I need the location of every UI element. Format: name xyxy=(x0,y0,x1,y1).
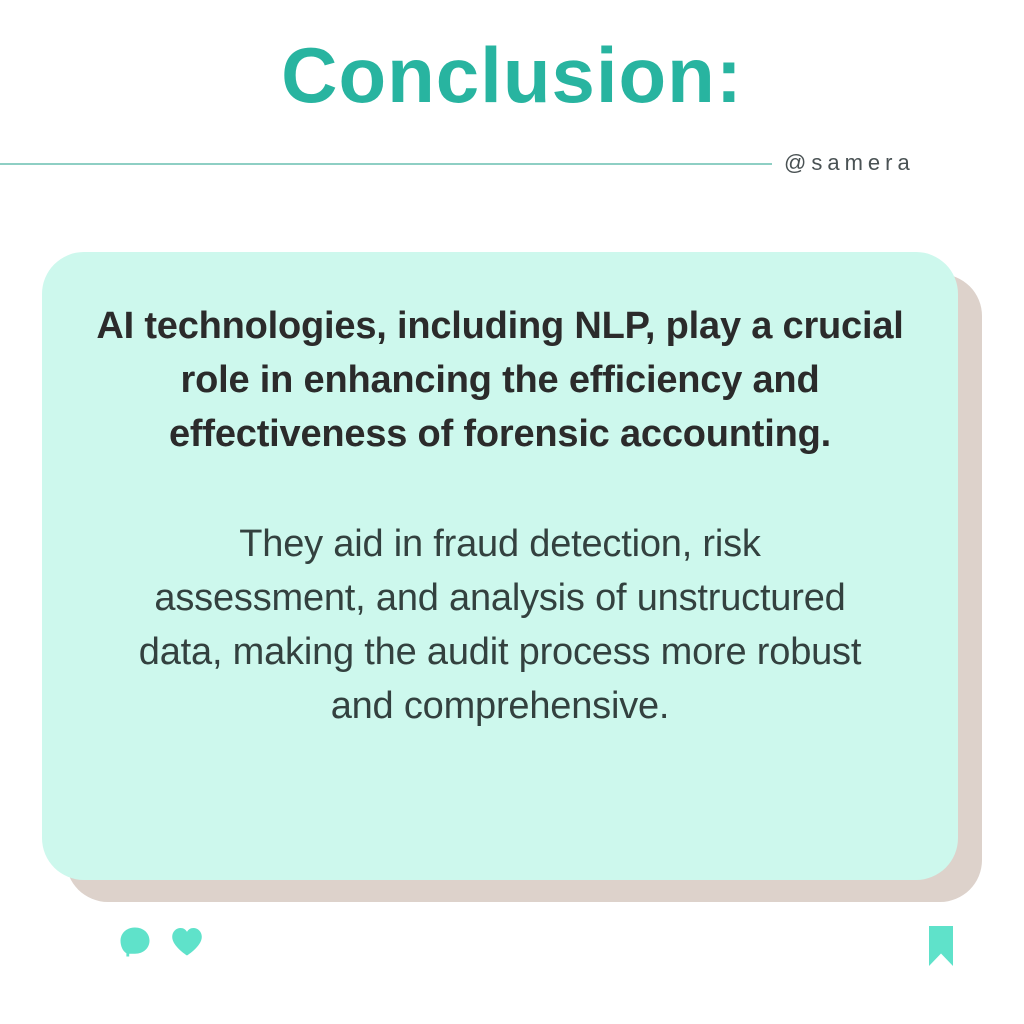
bookmark-icon[interactable] xyxy=(926,925,956,967)
content-card: AI technologies, including NLP, play a c… xyxy=(42,252,958,880)
divider-row: @samera xyxy=(0,150,1024,190)
card-paragraph-secondary: They aid in fraud detection, risk assess… xyxy=(129,518,871,734)
comment-icon[interactable] xyxy=(118,925,152,959)
author-handle: @samera xyxy=(784,150,915,176)
post-slide: Conclusion: @samera AI technologies, inc… xyxy=(0,0,1024,1024)
header-divider xyxy=(0,163,772,165)
content-card-wrapper: AI technologies, including NLP, play a c… xyxy=(42,252,958,880)
header: Conclusion: @samera xyxy=(0,0,1024,190)
page-title: Conclusion: xyxy=(0,36,1024,114)
footer-action-bar xyxy=(0,925,1024,985)
footer-right-actions xyxy=(926,925,956,967)
card-paragraph-primary: AI technologies, including NLP, play a c… xyxy=(88,300,912,462)
footer-left-actions xyxy=(118,925,204,959)
heart-icon[interactable] xyxy=(170,925,204,959)
